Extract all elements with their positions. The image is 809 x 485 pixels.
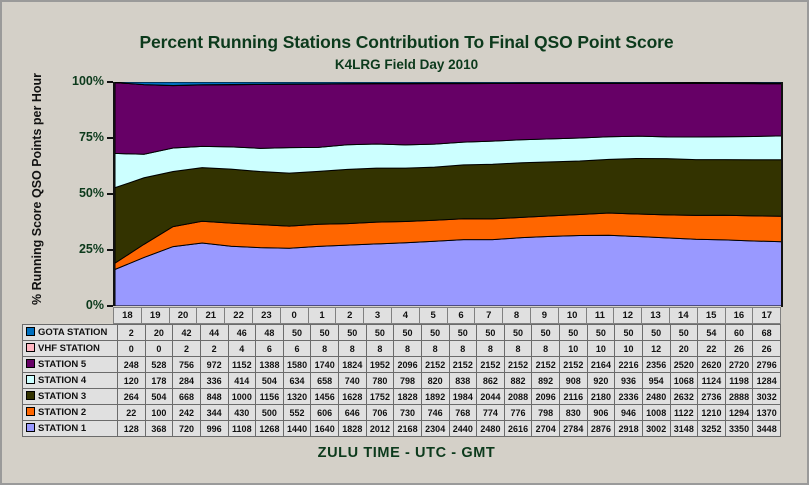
page-subtitle: K4LRG Field Day 2010 xyxy=(2,57,809,72)
table-cell: 54 xyxy=(698,325,726,341)
x-tick-label: 4 xyxy=(392,307,420,324)
legend-swatch-station4 xyxy=(26,375,35,384)
table-cell: 2736 xyxy=(698,389,726,405)
table-cell: 2168 xyxy=(394,421,422,437)
table-cell: 646 xyxy=(339,405,367,421)
x-tick-label: 11 xyxy=(587,307,615,324)
x-tick-label: 16 xyxy=(726,307,754,324)
table-cell: 768 xyxy=(449,405,477,421)
table-row-header: STATION 2 xyxy=(23,405,118,421)
y-tick-mark xyxy=(107,81,113,83)
table-cell: 42 xyxy=(173,325,201,341)
table-cell: 1828 xyxy=(394,389,422,405)
table-cell: 4 xyxy=(228,341,256,357)
x-tick-label: 15 xyxy=(698,307,726,324)
area-band-station-1 xyxy=(115,235,783,306)
table-cell: 820 xyxy=(421,373,449,389)
table-cell: 100 xyxy=(145,405,173,421)
x-tick-label: 20 xyxy=(170,307,198,324)
table-cell: 50 xyxy=(449,325,477,341)
table-cell: 22 xyxy=(118,405,146,421)
table-cell: 2096 xyxy=(532,389,560,405)
table-cell: 730 xyxy=(394,405,422,421)
table-cell: 946 xyxy=(615,405,643,421)
table-cell: 2356 xyxy=(642,357,670,373)
table-cell: 26 xyxy=(725,341,753,357)
table-cell: 634 xyxy=(283,373,311,389)
table-cell: 1580 xyxy=(283,357,311,373)
table-cell: 920 xyxy=(587,373,615,389)
table-cell: 2152 xyxy=(532,357,560,373)
table-cell: 264 xyxy=(118,389,146,405)
table-cell: 2044 xyxy=(477,389,505,405)
table-cell: 50 xyxy=(421,325,449,341)
x-tick-label: 14 xyxy=(670,307,698,324)
table-cell: 1952 xyxy=(366,357,394,373)
table-cell: 2720 xyxy=(725,357,753,373)
table-cell: 706 xyxy=(366,405,394,421)
x-axis-labels: 18192021222301234567891011121314151617 xyxy=(113,307,781,324)
table-cell: 774 xyxy=(477,405,505,421)
table-cell: 2152 xyxy=(421,357,449,373)
page-title: Percent Running Stations Contribution To… xyxy=(2,32,809,53)
table-cell: 1068 xyxy=(670,373,698,389)
table-cell: 8 xyxy=(532,341,560,357)
table-cell: 882 xyxy=(504,373,532,389)
y-tick-label: 75% xyxy=(42,130,104,144)
table-row-label: STATION 5 xyxy=(38,359,86,370)
table-cell: 50 xyxy=(283,325,311,341)
table-cell: 1740 xyxy=(311,357,339,373)
table-cell: 8 xyxy=(311,341,339,357)
chart-page: Percent Running Stations Contribution To… xyxy=(0,0,809,485)
legend-swatch-gota xyxy=(26,327,35,336)
table-cell: 830 xyxy=(560,405,588,421)
table-cell: 48 xyxy=(256,325,284,341)
table-row: STATION 11283687209961108126814401640182… xyxy=(23,421,781,437)
table-cell: 2116 xyxy=(560,389,588,405)
x-tick-label: 13 xyxy=(642,307,670,324)
table-cell: 178 xyxy=(145,373,173,389)
table-cell: 128 xyxy=(118,421,146,437)
table-cell: 720 xyxy=(173,421,201,437)
table-cell: 50 xyxy=(670,325,698,341)
table-cell: 50 xyxy=(504,325,532,341)
table-cell: 2088 xyxy=(504,389,532,405)
table-cell: 50 xyxy=(339,325,367,341)
table-cell: 430 xyxy=(228,405,256,421)
table-cell: 50 xyxy=(615,325,643,341)
table-cell: 2520 xyxy=(670,357,698,373)
x-tick-label: 17 xyxy=(753,307,781,324)
x-tick-label: 22 xyxy=(225,307,253,324)
table-cell: 2876 xyxy=(587,421,615,437)
x-tick-label: 23 xyxy=(253,307,281,324)
plot-area xyxy=(113,82,783,306)
table-cell: 8 xyxy=(477,341,505,357)
table-cell: 10 xyxy=(587,341,615,357)
table-row-header: GOTA STATION xyxy=(23,325,118,341)
table-row-header: STATION 4 xyxy=(23,373,118,389)
table-cell: 3448 xyxy=(753,421,781,437)
table-cell: 2796 xyxy=(753,357,781,373)
stacked-area-svg xyxy=(115,82,783,306)
table-cell: 8 xyxy=(421,341,449,357)
table-cell: 606 xyxy=(311,405,339,421)
table-cell: 2 xyxy=(118,325,146,341)
table-cell: 2096 xyxy=(394,357,422,373)
table-row-header: STATION 5 xyxy=(23,357,118,373)
table-row: STATION 32645046688481000115613201456162… xyxy=(23,389,781,405)
table-row: GOTA STATION2204244464850505050505050505… xyxy=(23,325,781,341)
table-cell: 500 xyxy=(256,405,284,421)
table-cell: 2012 xyxy=(366,421,394,437)
table-cell: 2152 xyxy=(560,357,588,373)
table-cell: 504 xyxy=(145,389,173,405)
table-cell: 2152 xyxy=(477,357,505,373)
table-cell: 2480 xyxy=(477,421,505,437)
table-cell: 2480 xyxy=(642,389,670,405)
table-cell: 2180 xyxy=(587,389,615,405)
table-cell: 8 xyxy=(504,341,532,357)
table-cell: 2304 xyxy=(421,421,449,437)
table-cell: 504 xyxy=(256,373,284,389)
x-tick-label: 1 xyxy=(309,307,337,324)
table-cell: 50 xyxy=(532,325,560,341)
table-cell: 1892 xyxy=(421,389,449,405)
table-cell: 0 xyxy=(145,341,173,357)
legend-swatch-station2 xyxy=(26,407,35,416)
table-row-header: STATION 3 xyxy=(23,389,118,405)
x-tick-label: 5 xyxy=(420,307,448,324)
table-cell: 1456 xyxy=(311,389,339,405)
table-row: STATION 41201782843364145046346587407807… xyxy=(23,373,781,389)
legend-swatch-station1 xyxy=(26,423,35,432)
table-cell: 3032 xyxy=(753,389,781,405)
table-cell: 740 xyxy=(339,373,367,389)
x-tick-label: 0 xyxy=(281,307,309,324)
table-row: STATION 52485287569721152138815801740182… xyxy=(23,357,781,373)
table-cell: 46 xyxy=(228,325,256,341)
table-cell: 1210 xyxy=(698,405,726,421)
table-cell: 2616 xyxy=(504,421,532,437)
table-row-header: STATION 1 xyxy=(23,421,118,437)
table-cell: 1000 xyxy=(228,389,256,405)
table-cell: 776 xyxy=(504,405,532,421)
table-cell: 44 xyxy=(200,325,228,341)
table-cell: 746 xyxy=(421,405,449,421)
table-cell: 552 xyxy=(283,405,311,421)
table-cell: 3002 xyxy=(642,421,670,437)
table-cell: 936 xyxy=(615,373,643,389)
table-cell: 336 xyxy=(200,373,228,389)
table-cell: 50 xyxy=(587,325,615,341)
table-cell: 2216 xyxy=(615,357,643,373)
table-row-label: STATION 2 xyxy=(38,407,86,418)
table-cell: 658 xyxy=(311,373,339,389)
x-tick-label: 18 xyxy=(113,307,142,324)
table-cell: 50 xyxy=(560,325,588,341)
table-cell: 26 xyxy=(753,341,781,357)
table-cell: 908 xyxy=(560,373,588,389)
table-cell: 3252 xyxy=(698,421,726,437)
x-tick-label: 12 xyxy=(614,307,642,324)
table-cell: 8 xyxy=(449,341,477,357)
legend-swatch-station3 xyxy=(26,391,35,400)
table-row: VHF STATION00224668888888881010101220222… xyxy=(23,341,781,357)
legend-swatch-station5 xyxy=(26,359,35,368)
table-cell: 2 xyxy=(173,341,201,357)
x-axis-title: ZULU TIME - UTC - GMT xyxy=(2,445,809,461)
table-cell: 1268 xyxy=(256,421,284,437)
y-tick-mark xyxy=(107,137,113,139)
data-table: GOTA STATION2204244464850505050505050505… xyxy=(22,324,781,437)
table-cell: 1824 xyxy=(339,357,367,373)
table-cell: 1108 xyxy=(228,421,256,437)
table-cell: 20 xyxy=(670,341,698,357)
table-cell: 6 xyxy=(256,341,284,357)
table-cell: 68 xyxy=(753,325,781,341)
y-tick-mark xyxy=(107,193,113,195)
table-row-label: STATION 1 xyxy=(38,423,86,434)
table-cell: 120 xyxy=(118,373,146,389)
table-cell: 1156 xyxy=(256,389,284,405)
table-cell: 1828 xyxy=(339,421,367,437)
table-cell: 1152 xyxy=(228,357,256,373)
table-cell: 528 xyxy=(145,357,173,373)
table-cell: 284 xyxy=(173,373,201,389)
x-tick-label: 19 xyxy=(142,307,170,324)
table-cell: 954 xyxy=(642,373,670,389)
x-tick-label: 9 xyxy=(531,307,559,324)
table-cell: 344 xyxy=(200,405,228,421)
table-cell: 8 xyxy=(339,341,367,357)
table-cell: 798 xyxy=(394,373,422,389)
table-cell: 1752 xyxy=(366,389,394,405)
table-cell: 1320 xyxy=(283,389,311,405)
x-tick-label: 10 xyxy=(559,307,587,324)
table-cell: 1122 xyxy=(670,405,698,421)
y-tick-label: 0% xyxy=(42,298,104,312)
x-tick-label: 21 xyxy=(197,307,225,324)
table-cell: 2620 xyxy=(698,357,726,373)
table-row-label: STATION 4 xyxy=(38,375,86,386)
table-cell: 0 xyxy=(118,341,146,357)
table-cell: 1124 xyxy=(698,373,726,389)
table-cell: 798 xyxy=(532,405,560,421)
table-cell: 2784 xyxy=(560,421,588,437)
table-cell: 972 xyxy=(200,357,228,373)
table-cell: 756 xyxy=(173,357,201,373)
table-cell: 2336 xyxy=(615,389,643,405)
table-cell: 838 xyxy=(449,373,477,389)
table-cell: 3350 xyxy=(725,421,753,437)
table-cell: 1198 xyxy=(725,373,753,389)
y-tick-mark xyxy=(107,249,113,251)
x-tick-label: 6 xyxy=(448,307,476,324)
x-tick-label: 2 xyxy=(336,307,364,324)
table-row-header: VHF STATION xyxy=(23,341,118,357)
table-cell: 414 xyxy=(228,373,256,389)
x-tick-label: 7 xyxy=(475,307,503,324)
table-cell: 1294 xyxy=(725,405,753,421)
table-cell: 1008 xyxy=(642,405,670,421)
plot-right-border xyxy=(781,82,783,307)
table-cell: 10 xyxy=(615,341,643,357)
y-tick-label: 50% xyxy=(42,186,104,200)
table-cell: 10 xyxy=(560,341,588,357)
table-cell: 248 xyxy=(118,357,146,373)
table-cell: 60 xyxy=(725,325,753,341)
table-cell: 12 xyxy=(642,341,670,357)
table-cell: 1628 xyxy=(339,389,367,405)
table-cell: 3148 xyxy=(670,421,698,437)
x-tick-label: 8 xyxy=(503,307,531,324)
table-cell: 6 xyxy=(283,341,311,357)
table-cell: 2164 xyxy=(587,357,615,373)
table-cell: 1640 xyxy=(311,421,339,437)
table-cell: 2888 xyxy=(725,389,753,405)
table-cell: 50 xyxy=(642,325,670,341)
table-cell: 20 xyxy=(145,325,173,341)
table-cell: 2 xyxy=(200,341,228,357)
table-row-label: GOTA STATION xyxy=(38,327,107,338)
table-cell: 1370 xyxy=(753,405,781,421)
table-cell: 780 xyxy=(366,373,394,389)
table-cell: 906 xyxy=(587,405,615,421)
x-tick-label: 3 xyxy=(364,307,392,324)
table-cell: 1388 xyxy=(256,357,284,373)
table-row-label: VHF STATION xyxy=(38,343,100,354)
table-cell: 1284 xyxy=(753,373,781,389)
table-cell: 2918 xyxy=(615,421,643,437)
table-cell: 2632 xyxy=(670,389,698,405)
y-tick-label: 25% xyxy=(42,242,104,256)
table-cell: 8 xyxy=(366,341,394,357)
legend-swatch-vhf xyxy=(26,343,35,352)
table-cell: 1984 xyxy=(449,389,477,405)
table-cell: 242 xyxy=(173,405,201,421)
table-cell: 2152 xyxy=(504,357,532,373)
table-cell: 2704 xyxy=(532,421,560,437)
table-cell: 2152 xyxy=(449,357,477,373)
table-cell: 50 xyxy=(477,325,505,341)
table-row: STATION 22210024234443050055260664670673… xyxy=(23,405,781,421)
table-cell: 22 xyxy=(698,341,726,357)
table-cell: 668 xyxy=(173,389,201,405)
table-cell: 50 xyxy=(311,325,339,341)
table-cell: 862 xyxy=(477,373,505,389)
table-cell: 50 xyxy=(394,325,422,341)
table-cell: 50 xyxy=(366,325,394,341)
table-cell: 848 xyxy=(200,389,228,405)
y-tick-label: 100% xyxy=(42,74,104,88)
table-cell: 8 xyxy=(394,341,422,357)
table-cell: 996 xyxy=(200,421,228,437)
table-cell: 2440 xyxy=(449,421,477,437)
table-cell: 368 xyxy=(145,421,173,437)
table-cell: 1440 xyxy=(283,421,311,437)
table-row-label: STATION 3 xyxy=(38,391,86,402)
stacked-area-canvas xyxy=(115,82,783,306)
table-cell: 892 xyxy=(532,373,560,389)
